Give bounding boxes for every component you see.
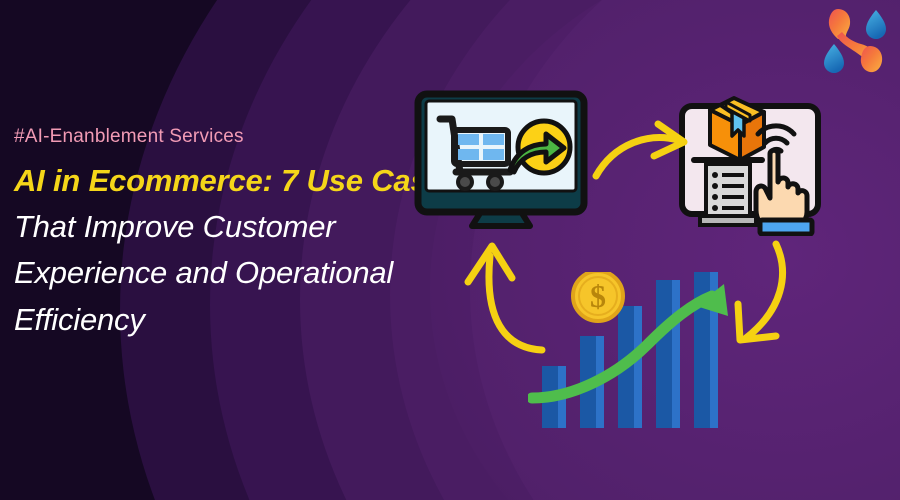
arrow-monitor-to-package-icon: [592, 118, 694, 182]
arrow-chart-to-monitor-icon: [456, 238, 548, 362]
headline-highlight: AI in Ecommerce: 7 Use Cases: [14, 163, 462, 198]
dollar-coin-icon: $: [573, 272, 623, 321]
chart-bars: [542, 272, 718, 428]
headline-rest: That Improve Customer Experience and Ope…: [14, 209, 393, 336]
ecommerce-monitor-icon: [410, 86, 592, 246]
brand-logo-icon[interactable]: [818, 6, 890, 78]
coin-symbol: $: [590, 278, 606, 314]
promo-banner: #AI-Enanblement Services AI in Ecommerce…: [0, 0, 900, 500]
revenue-growth-chart: $: [528, 272, 740, 438]
arrow-package-to-chart-icon: [726, 238, 828, 360]
